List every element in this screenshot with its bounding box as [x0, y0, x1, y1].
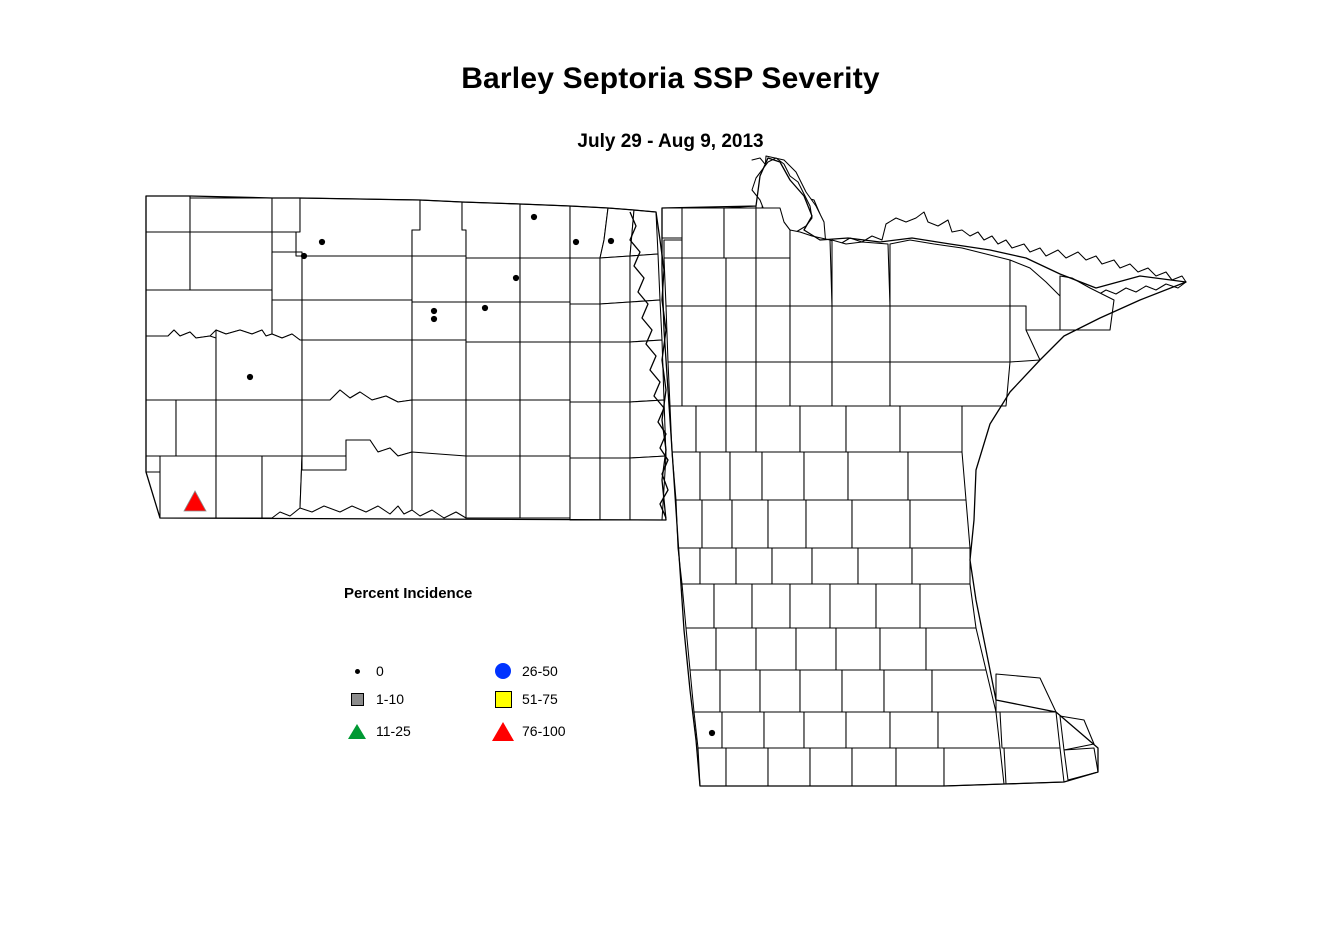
- legend-item-1-10: 1-10: [344, 688, 404, 710]
- data-point-zero: [531, 214, 537, 220]
- legend: Percent Incidence 0 1-10 11-25 26-50 51-…: [344, 585, 594, 710]
- legend-label: 76-100: [522, 723, 566, 739]
- red-triangle-icon: [490, 722, 516, 741]
- small-black-dot-icon: [344, 669, 370, 674]
- legend-item-0: 0: [344, 660, 384, 682]
- yellow-square-icon: [490, 691, 516, 708]
- data-point-zero: [319, 239, 325, 245]
- green-triangle-icon: [344, 724, 370, 739]
- legend-label: 1-10: [376, 691, 404, 707]
- blue-circle-icon: [490, 663, 516, 679]
- data-point-zero: [608, 238, 614, 244]
- data-point-zero: [301, 253, 307, 259]
- data-point-zero: [573, 239, 579, 245]
- data-point-zero: [482, 305, 488, 311]
- data-point-zero: [431, 316, 437, 322]
- legend-item-51-75: 51-75: [490, 688, 558, 710]
- north-dakota-counties: [146, 196, 666, 520]
- legend-label: 26-50: [522, 663, 558, 679]
- legend-label: 11-25: [376, 723, 411, 739]
- data-point-zero: [431, 308, 437, 314]
- data-point-zero: [709, 730, 715, 736]
- gray-square-icon: [344, 693, 370, 706]
- minnesota-counties: [662, 156, 1186, 786]
- legend-title: Percent Incidence: [344, 585, 594, 602]
- legend-item-11-25: 11-25: [344, 720, 411, 742]
- page-subtitle: July 29 - Aug 9, 2013: [0, 131, 1341, 153]
- data-point-zero: [247, 374, 253, 380]
- legend-item-26-50: 26-50: [490, 660, 558, 682]
- page-title: Barley Septoria SSP Severity: [0, 62, 1341, 96]
- data-point-zero: [513, 275, 519, 281]
- legend-label: 51-75: [522, 691, 558, 707]
- legend-item-76-100: 76-100: [490, 720, 566, 742]
- legend-label: 0: [376, 663, 384, 679]
